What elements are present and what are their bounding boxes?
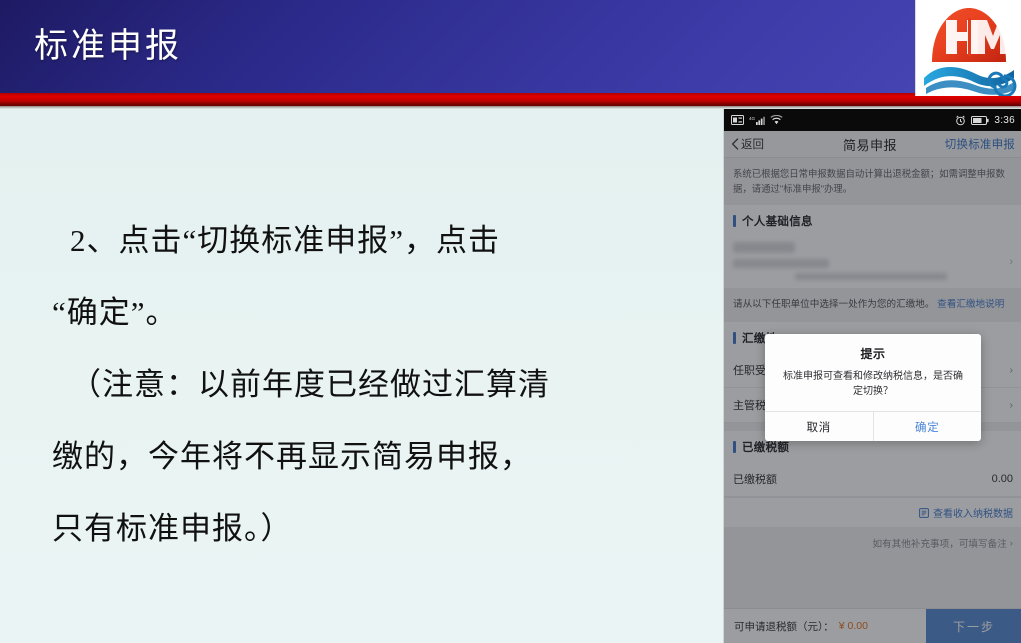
sun-waves-logo-icon	[916, 0, 1021, 96]
phone-screenshot: 4G	[723, 109, 1021, 643]
body-line-3: （注意：以前年度已经做过汇算清	[52, 349, 712, 421]
alarm-clock-icon	[955, 115, 966, 126]
organization-logo	[915, 0, 1021, 96]
refundable-amount-label: 可申请退税额（元）：	[734, 619, 834, 634]
status-bar-clock: 3:36	[994, 115, 1015, 126]
body-line-4: 缴的，今年将不再显示简易申报，	[52, 421, 712, 493]
refundable-amount-value: ¥ 0.00	[839, 620, 868, 632]
remittance-hint-text: 请从以下任职单位中选择一处作为您的汇缴地。	[733, 299, 934, 310]
switch-standard-declaration-link[interactable]: 切换标准申报	[938, 136, 1021, 152]
dialog-cancel-button[interactable]: 取消	[765, 412, 874, 441]
slide-canvas: 标准申报	[0, 0, 1021, 643]
wifi-icon	[770, 115, 783, 125]
phone-status-bar: 4G	[724, 109, 1021, 131]
body-line-2: “确定”。	[52, 277, 712, 349]
remark-label: 如有其他补充事项，可填写备注	[872, 536, 1006, 550]
system-notice-text: 系统已根据您日常申报数据自动计算出退税金额；如需调整申报数据，请通过"标准申报"…	[724, 158, 1021, 205]
battery-icon	[971, 116, 989, 125]
document-list-icon	[919, 508, 929, 518]
chevron-right-icon: ›	[1010, 364, 1014, 376]
view-income-tax-data-label: 查看收入纳税数据	[933, 505, 1013, 520]
back-button-label: 返回	[741, 136, 764, 152]
page-title: 标准申报	[34, 24, 182, 68]
chevron-left-icon	[731, 138, 739, 150]
chevron-right-icon: ›	[1010, 538, 1013, 549]
tax-authority-row-value: ›	[1010, 399, 1014, 411]
remittance-hint: 请从以下任职单位中选择一处作为您的汇缴地。 查看汇缴地说明	[724, 288, 1021, 322]
slide-body-text: 2、点击“切换标准申报”，点击 “确定”。 （注意：以前年度已经做过汇算清 缴的…	[52, 205, 712, 565]
chevron-right-icon: ›	[1009, 256, 1013, 268]
dialog-button-row: 取消 确定	[765, 411, 981, 441]
redacted-detail-line	[795, 273, 947, 280]
app-nav-bar: 返回 简易申报 切换标准申报	[724, 131, 1021, 158]
back-button[interactable]: 返回	[724, 136, 802, 152]
app-title: 简易申报	[802, 135, 938, 154]
signal-4g-icon: 4G	[749, 115, 765, 125]
paid-tax-row-value: 0.00	[992, 473, 1013, 485]
slide-banner: 标准申报	[0, 0, 1021, 93]
redacted-name	[733, 242, 795, 253]
next-step-button[interactable]: 下一步	[926, 609, 1021, 643]
paid-tax-title: 已缴税额	[742, 439, 789, 455]
dialog-confirm-button[interactable]: 确定	[874, 412, 982, 441]
view-remittance-help-link[interactable]: 查看汇缴地说明	[937, 299, 1004, 310]
personal-info-row[interactable]: ›	[724, 236, 1021, 288]
paid-tax-card: 已缴税额 已缴税额 0.00 查看收入纳税数据	[724, 431, 1021, 527]
dialog-message: 标准申报可查看和修改纳税信息，是否确定切换？	[765, 369, 981, 411]
personal-info-section-header: 个人基础信息	[724, 205, 1021, 236]
body-line-1: 2、点击“切换标准申报”，点击	[52, 205, 712, 277]
section-accent-bar	[733, 215, 736, 227]
employer-row-value: ›	[1010, 364, 1014, 376]
bottom-action-bar: 可申请退税额（元）： ¥ 0.00 下一步	[724, 608, 1021, 643]
section-accent-bar	[733, 332, 736, 344]
confirm-switch-dialog: 提示 标准申报可查看和修改纳税信息，是否确定切换？ 取消 确定	[765, 334, 981, 441]
svg-text:4G: 4G	[749, 116, 756, 121]
body-line-5: 只有标准申报。）	[52, 493, 712, 565]
personal-info-title: 个人基础信息	[742, 213, 813, 229]
paid-tax-row-label: 已缴税额	[733, 471, 777, 487]
chevron-right-icon: ›	[1010, 399, 1014, 411]
redacted-id-line	[733, 259, 829, 268]
refundable-amount-block: 可申请退税额（元）： ¥ 0.00	[724, 619, 926, 634]
sim-card-icon	[731, 115, 744, 125]
personal-info-card: 个人基础信息 ›	[724, 205, 1021, 288]
table-row: 已缴税额 0.00	[724, 462, 1021, 497]
section-accent-bar	[733, 441, 736, 453]
banner-red-rule	[0, 93, 1021, 106]
view-income-tax-data-link[interactable]: 查看收入纳税数据	[724, 497, 1021, 527]
remark-link[interactable]: 如有其他补充事项，可填写备注 ›	[724, 527, 1021, 559]
dialog-title: 提示	[765, 334, 981, 369]
